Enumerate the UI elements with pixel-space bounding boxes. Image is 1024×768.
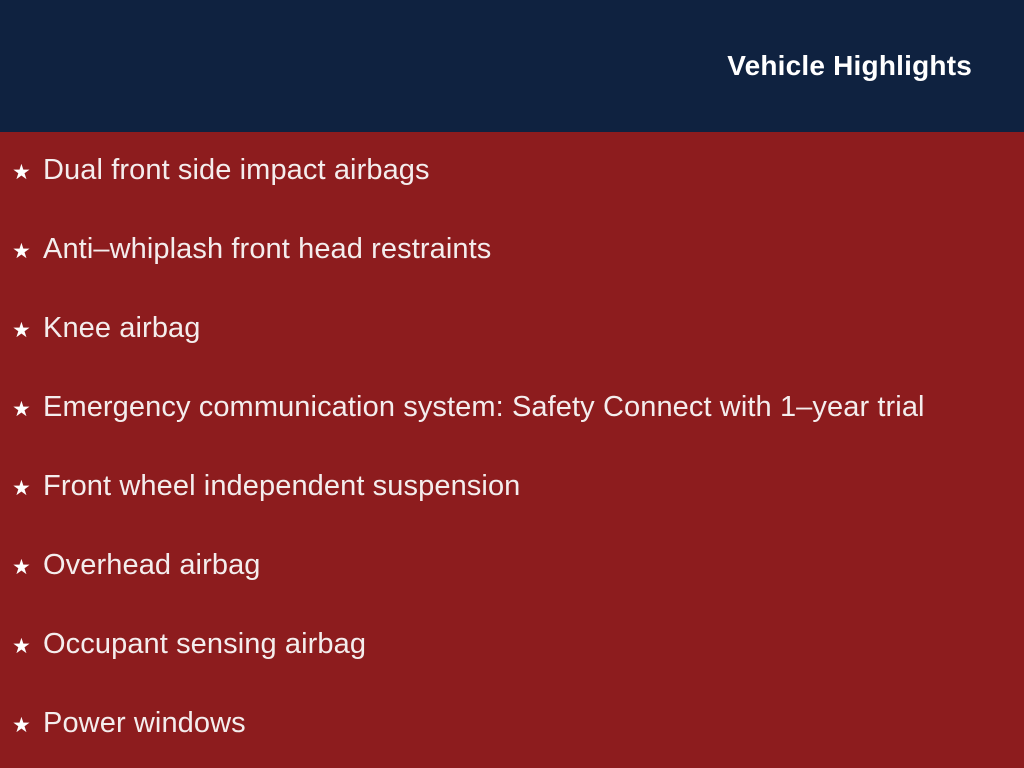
page-title: Vehicle Highlights [727,51,972,82]
list-item: ★ Anti–whiplash front head restraints [0,233,1000,312]
vehicle-highlights-list: ★ Dual front side impact airbags ★ Anti–… [0,154,1000,768]
list-item-label: Anti–whiplash front head restraints [43,233,1000,266]
vehicle-highlights-slide: Vehicle Highlights ★ Dual front side imp… [0,0,1024,768]
list-item: ★ Knee airbag [0,312,1000,391]
list-item: ★ Overhead airbag [0,549,1000,628]
list-item-label: Emergency communication system: Safety C… [43,391,1000,424]
star-icon: ★ [12,715,43,736]
star-icon: ★ [12,320,43,341]
list-item: ★ Power windows [0,707,1000,768]
star-icon: ★ [12,636,43,657]
list-item: ★ Occupant sensing airbag [0,628,1000,707]
star-icon: ★ [12,557,43,578]
star-icon: ★ [12,241,43,262]
star-icon: ★ [12,162,43,183]
slide-header: Vehicle Highlights [0,0,1024,132]
list-item-label: Front wheel independent suspension [43,470,1000,503]
star-icon: ★ [12,399,43,420]
list-item-label: Knee airbag [43,312,1000,345]
list-item-label: Dual front side impact airbags [43,154,1000,187]
star-icon: ★ [12,478,43,499]
list-item: ★ Dual front side impact airbags [0,154,1000,233]
list-item-label: Occupant sensing airbag [43,628,1000,661]
list-item: ★ Front wheel independent suspension [0,470,1000,549]
slide-body: ★ Dual front side impact airbags ★ Anti–… [0,132,1024,768]
list-item-label: Power windows [43,707,1000,740]
list-item: ★ Emergency communication system: Safety… [0,391,1000,470]
list-item-label: Overhead airbag [43,549,1000,582]
